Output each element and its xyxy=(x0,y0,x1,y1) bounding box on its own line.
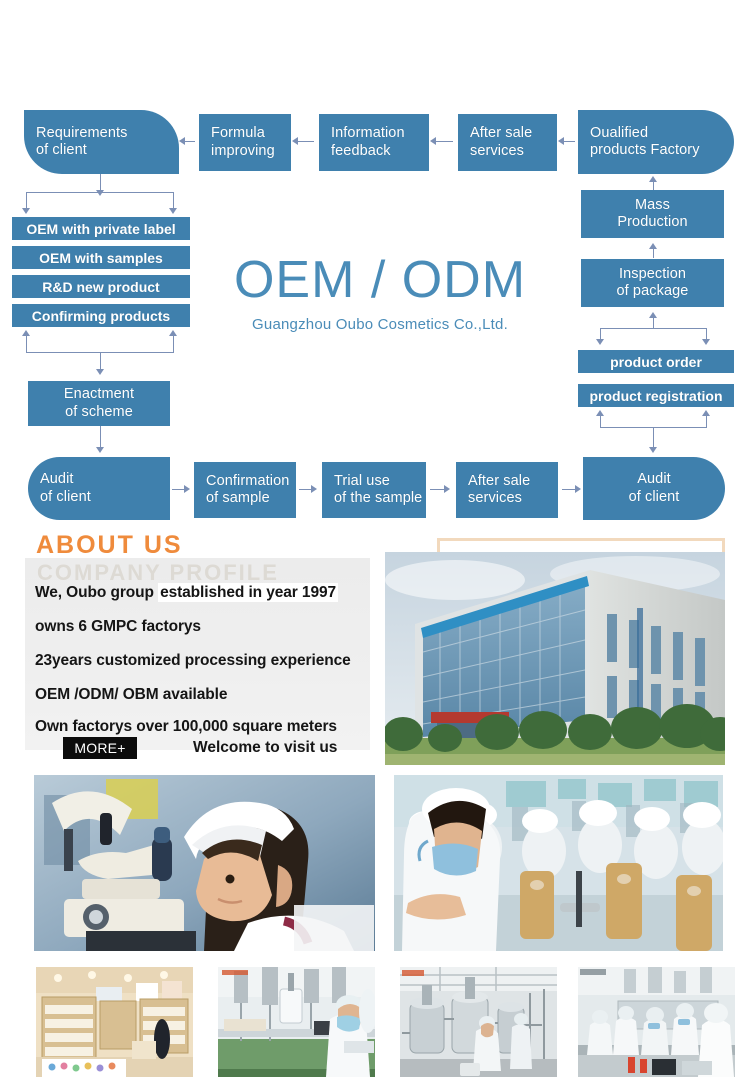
flow-box-line2: services xyxy=(470,143,557,160)
connector-line xyxy=(653,249,654,258)
flow-box-line2: of scheme xyxy=(65,404,133,421)
arrow-down-icon xyxy=(702,339,710,345)
flow-box-inspection-of-package: Inspection of package xyxy=(581,259,724,307)
about-line-4: OEM /ODM/ OBM available xyxy=(35,686,227,704)
flow-stack-item-confirming-products: Confirming products xyxy=(12,304,190,327)
stack-item-label: OEM with samples xyxy=(39,250,163,266)
flow-stack-item-product-registration: product registration xyxy=(578,384,734,407)
arrow-left-icon xyxy=(179,137,185,145)
about-line-highlight: established in year 1997 xyxy=(158,583,338,602)
arrow-left-icon xyxy=(430,137,436,145)
about-line-plain: We, Oubo group xyxy=(35,584,158,601)
arrow-down-icon xyxy=(96,447,104,453)
wordmark-company-name: Guangzhou Oubo Cosmetics Co.,Ltd. xyxy=(200,316,560,333)
connector-line xyxy=(653,427,654,448)
about-line-plain: Own factorys over 100,000 square meters xyxy=(35,718,337,735)
brand-wordmark: OEM / ODM Guangzhou Oubo Cosmetics Co.,L… xyxy=(200,253,560,333)
connector-line xyxy=(184,141,195,142)
about-line-3: 23years customized processing experience xyxy=(35,652,351,670)
connector-line xyxy=(26,336,27,353)
connector-line xyxy=(653,182,654,190)
about-line-1: We, Oubo group established in year 1997 xyxy=(35,584,338,602)
flow-stack-item-rd-new-product: R&D new product xyxy=(12,275,190,298)
arrow-down-icon xyxy=(649,447,657,453)
arrow-right-icon xyxy=(444,485,450,493)
flow-box-line2: of client xyxy=(629,489,680,506)
flow-box-line2: feedback xyxy=(331,143,429,160)
photo-production-line-workers xyxy=(394,775,723,951)
flow-box-line2: services xyxy=(468,490,558,507)
flow-box-line1: Enactment xyxy=(64,386,134,403)
flow-box-formula-improving: Formula improving xyxy=(199,114,291,171)
flow-box-confirmation-of-sample: Confirmation of sample xyxy=(194,462,296,518)
flow-box-line1: Audit xyxy=(40,471,170,488)
about-line-5: Own factorys over 100,000 square meters xyxy=(35,718,337,736)
flow-box-line1: Inspection xyxy=(619,266,686,283)
flow-box-trial-use-of-the-sample: Trial use of the sample xyxy=(322,462,426,518)
connector-line xyxy=(100,352,101,370)
flow-box-line2: of the sample xyxy=(334,490,426,507)
flow-box-line1: Oualified xyxy=(590,125,734,142)
flow-box-audit-of-client-left: Audit of client xyxy=(28,457,170,520)
flow-box-line2: of package xyxy=(617,283,689,300)
connector-line xyxy=(297,141,314,142)
connector-line xyxy=(563,141,575,142)
flow-box-line2: of client xyxy=(40,489,170,506)
connector-line xyxy=(600,328,707,329)
stack-item-label: product order xyxy=(610,354,702,370)
flow-box-line1: Requirements xyxy=(36,125,179,142)
stack-item-label: Confirming products xyxy=(32,308,170,324)
connector-line xyxy=(435,141,453,142)
flow-box-after-sale-services-top: After sale services xyxy=(458,114,557,171)
stack-item-label: R&D new product xyxy=(42,279,159,295)
flow-box-line2: improving xyxy=(211,143,291,160)
flow-stack-item-oem-private-label: OEM with private label xyxy=(12,217,190,240)
flow-box-line1: Mass xyxy=(635,197,670,214)
photo-retail-store xyxy=(36,967,193,1077)
flow-box-information-feedback: Information feedback xyxy=(319,114,429,171)
stack-item-label: product registration xyxy=(589,388,722,404)
connector-line xyxy=(173,336,174,353)
arrow-left-icon xyxy=(292,137,298,145)
about-line-plain: owns 6 GMPC factorys xyxy=(35,618,201,635)
wordmark-title: OEM / ODM xyxy=(200,253,560,308)
flow-box-line1: Audit xyxy=(637,471,671,488)
connector-line xyxy=(172,489,184,490)
arrow-down-icon xyxy=(169,208,177,214)
arrow-down-icon xyxy=(96,369,104,375)
about-us-heading: ABOUT US xyxy=(36,531,183,560)
flow-box-line2: of client xyxy=(36,142,179,159)
arrow-left-icon xyxy=(558,137,564,145)
connector-line xyxy=(430,489,444,490)
more-button[interactable]: MORE+ xyxy=(63,737,137,759)
photo-mixing-tanks xyxy=(400,967,557,1077)
connector-line xyxy=(26,192,174,193)
flow-box-audit-of-client-right: Audit of client xyxy=(583,457,725,520)
photo-assembly-line xyxy=(578,967,735,1077)
photo-factory-building xyxy=(385,552,725,765)
flow-box-qualified-products-factory: Oualified products Factory xyxy=(578,110,734,174)
flow-stack-item-oem-with-samples: OEM with samples xyxy=(12,246,190,269)
flow-box-line1: Information xyxy=(331,125,429,142)
connector-line xyxy=(100,426,101,448)
about-line-2: owns 6 GMPC factorys xyxy=(35,618,201,636)
stack-item-label: OEM with private label xyxy=(26,221,175,237)
photo-lab-microscope xyxy=(34,775,375,951)
flow-stack-item-product-order: product order xyxy=(578,350,734,373)
flow-box-line2: products Factory xyxy=(590,142,734,159)
flow-box-line1: Formula xyxy=(211,125,291,142)
flow-box-line1: Trial use xyxy=(334,473,426,490)
flow-box-line1: After sale xyxy=(470,125,557,142)
arrow-right-icon xyxy=(575,485,581,493)
process-flowchart: Requirements of client Formula improving… xyxy=(0,0,750,530)
connector-line xyxy=(562,489,575,490)
about-line-plain: 23years customized processing experience xyxy=(35,652,351,669)
connector-line xyxy=(299,489,311,490)
flow-box-line2: Production xyxy=(617,214,687,231)
arrow-down-icon xyxy=(22,208,30,214)
arrow-right-icon xyxy=(184,485,190,493)
arrow-down-icon xyxy=(596,339,604,345)
about-line-plain: OEM /ODM/ OBM available xyxy=(35,686,227,703)
flow-box-line2: of sample xyxy=(206,490,296,507)
arrow-right-icon xyxy=(311,485,317,493)
about-us-panel: COMPANY PROFILE We, Oubo group establish… xyxy=(25,558,370,750)
flow-box-line1: Confirmation xyxy=(206,473,296,490)
photo-packaging-line xyxy=(218,967,375,1077)
flow-box-mass-production: Mass Production xyxy=(581,190,724,238)
flow-box-after-sale-services-bottom: After sale services xyxy=(456,462,558,518)
welcome-text: Welcome to visit us xyxy=(193,739,337,757)
flow-box-requirements-of-client: Requirements of client xyxy=(24,110,179,174)
flow-box-line1: After sale xyxy=(468,473,558,490)
flow-box-enactment-of-scheme: Enactment of scheme xyxy=(28,381,170,426)
